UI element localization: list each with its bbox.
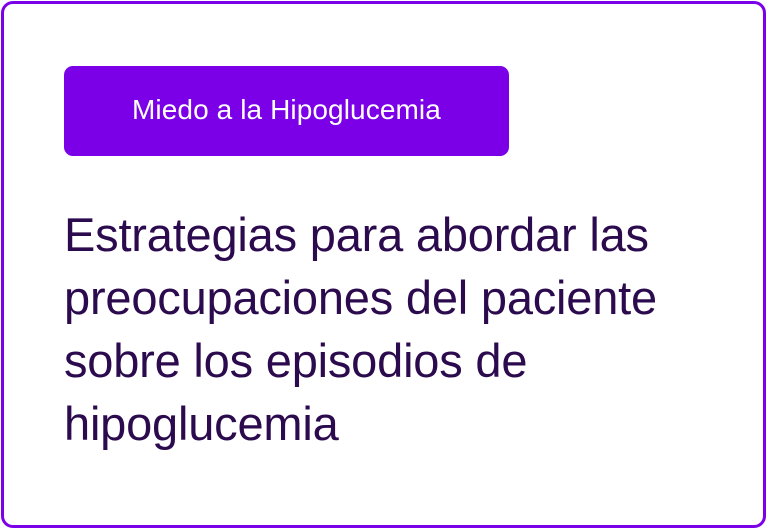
card-content: Miedo a la Hipoglucemia Estrategias para… (64, 66, 723, 455)
content-card: Miedo a la Hipoglucemia Estrategias para… (1, 1, 766, 528)
topic-badge[interactable]: Miedo a la Hipoglucemia (64, 66, 509, 156)
page-title: Estrategias para abordar las preocupacio… (64, 203, 704, 455)
